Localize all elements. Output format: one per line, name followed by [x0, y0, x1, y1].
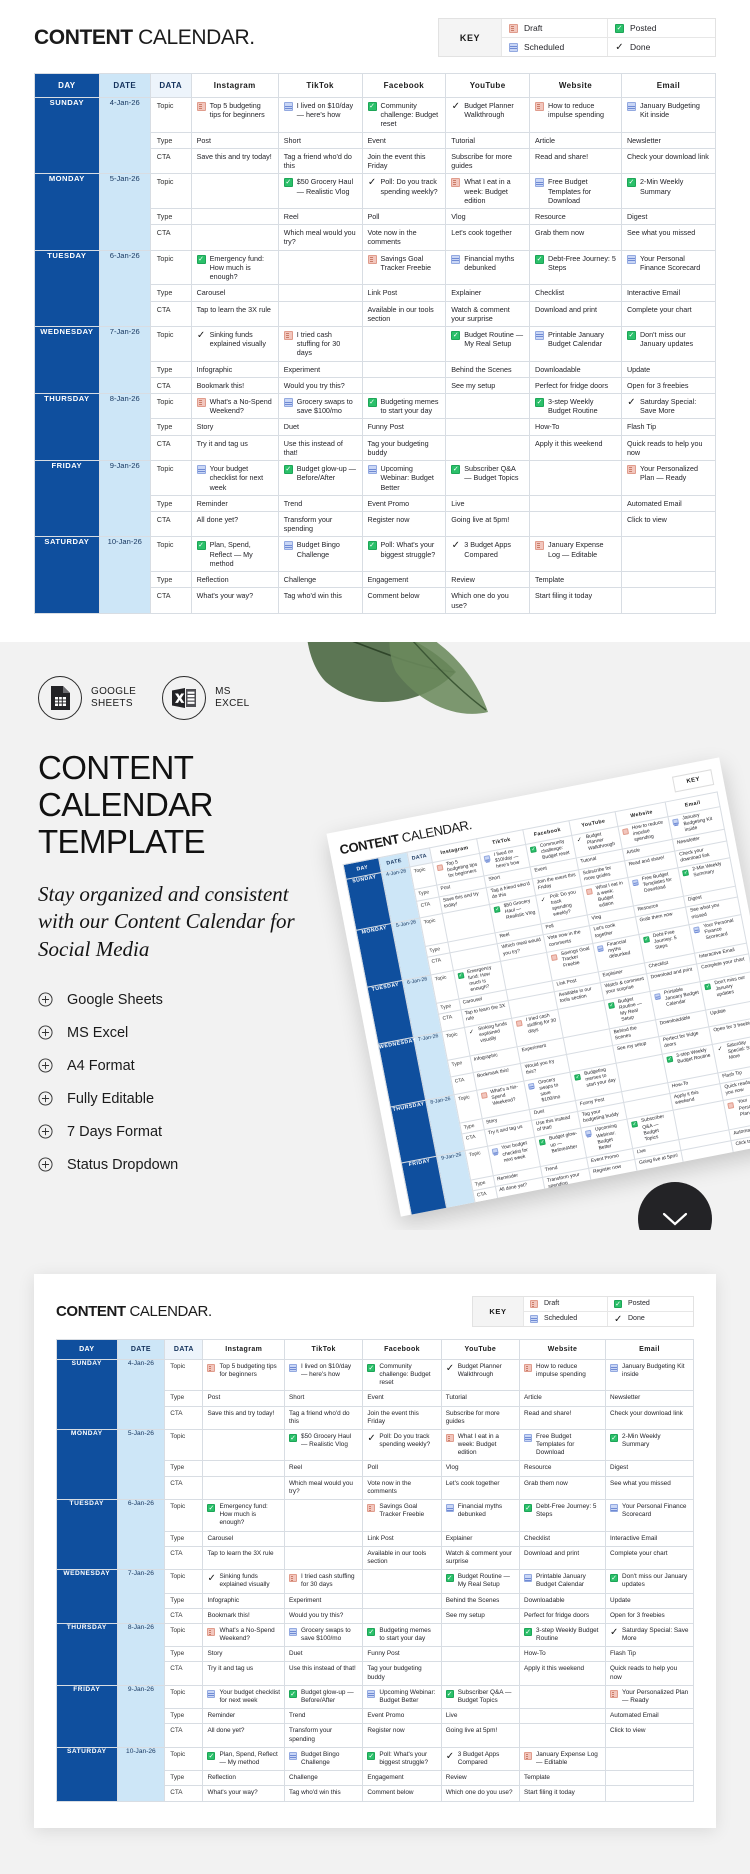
done-icon[interactable]	[468, 1028, 475, 1035]
content-cell[interactable]: Tag your budgeting buddy	[362, 435, 446, 460]
content-cell[interactable]	[606, 1786, 694, 1801]
scheduled-icon[interactable]	[289, 1752, 297, 1760]
content-cell[interactable]: January Expense Log — Editable	[520, 1747, 606, 1770]
content-cell[interactable]	[362, 326, 446, 361]
content-cell[interactable]: Live	[441, 1709, 519, 1724]
scheduled-icon[interactable]	[672, 818, 679, 825]
content-cell[interactable]	[362, 361, 446, 377]
done-icon[interactable]	[207, 1574, 215, 1582]
posted-icon[interactable]	[494, 906, 501, 913]
content-cell[interactable]: Tag who'd win this	[285, 1786, 363, 1801]
content-cell[interactable]: Vote now in the comments	[363, 1476, 441, 1499]
content-cell[interactable]: Bookmark this!	[191, 377, 278, 393]
posted-icon[interactable]	[627, 178, 636, 187]
content-cell[interactable]	[441, 1662, 519, 1685]
content-cell[interactable]: Article	[530, 132, 622, 148]
content-cell[interactable]: Budget Bingo Challenge	[285, 1747, 363, 1770]
content-cell[interactable]: Reel	[285, 1461, 363, 1476]
content-cell[interactable]: Downloadable	[530, 361, 622, 377]
content-cell[interactable]: What's your way?	[203, 1786, 285, 1801]
draft-icon[interactable]	[524, 1364, 532, 1372]
content-cell[interactable]	[278, 285, 362, 301]
content-cell[interactable]: Poll: Do you track spending weekly?	[362, 174, 446, 209]
content-cell[interactable]: Community challenge: Budget reset	[363, 1359, 441, 1391]
content-cell[interactable]: Review	[446, 572, 530, 588]
done-icon[interactable]	[717, 1045, 724, 1052]
content-cell[interactable]	[520, 1685, 606, 1708]
draft-icon[interactable]	[535, 102, 544, 111]
content-cell[interactable]: Financial myths debunked	[446, 250, 530, 285]
content-cell[interactable]: Explainer	[446, 285, 530, 301]
draft-icon[interactable]	[535, 541, 544, 550]
content-cell[interactable]: Automated Email	[621, 495, 715, 511]
content-cell[interactable]: Post	[203, 1391, 285, 1406]
content-cell[interactable]: Savings Goal Tracker Freebie	[362, 250, 446, 285]
content-cell[interactable]: Perfect for fridge doors	[530, 377, 622, 393]
scheduled-icon[interactable]	[289, 1364, 297, 1372]
draft-icon[interactable]	[367, 1504, 375, 1512]
done-icon[interactable]	[576, 837, 583, 844]
content-cell[interactable]: Story	[191, 419, 278, 435]
content-cell[interactable]: Don't miss our January updates	[606, 1570, 694, 1593]
scheduled-icon[interactable]	[654, 992, 661, 999]
posted-icon[interactable]	[368, 541, 377, 550]
content-cell[interactable]: Available in our tools section	[363, 1546, 441, 1569]
content-cell[interactable]: Apply it this weekend	[520, 1662, 606, 1685]
content-cell[interactable]: Budget glow-up — Before/After	[285, 1685, 363, 1708]
content-cell[interactable]: Grab them now	[520, 1476, 606, 1499]
scheduled-icon[interactable]	[597, 944, 604, 951]
content-cell[interactable]	[739, 1170, 750, 1191]
content-cell[interactable]: Plan, Spend, Reflect — My method	[203, 1747, 285, 1770]
content-cell[interactable]: Behind the Scenes	[446, 361, 530, 377]
scheduled-icon[interactable]	[368, 465, 377, 474]
content-cell[interactable]: Financial myths debunked	[441, 1500, 519, 1532]
content-cell[interactable]: $50 Grocery Haul — Realistic Vlog	[278, 174, 362, 209]
done-icon[interactable]	[642, 1178, 649, 1185]
content-cell[interactable]: Join the event this Friday	[363, 1406, 441, 1429]
content-cell[interactable]: I tried cash stuffing for 30 days	[278, 326, 362, 361]
posted-icon[interactable]	[284, 178, 293, 187]
content-cell[interactable]: Upcoming Webinar: Budget Better	[363, 1685, 441, 1708]
content-cell[interactable]: Sinking funds explained visually	[203, 1570, 285, 1593]
content-cell[interactable]	[606, 1771, 694, 1786]
content-cell[interactable]: Comment below	[362, 588, 446, 613]
content-cell[interactable]: Save this and try today!	[191, 148, 278, 173]
content-cell[interactable]: Let's cook together	[441, 1476, 519, 1499]
content-cell[interactable]: Tag a friend who'd do this	[285, 1406, 363, 1429]
done-icon[interactable]	[368, 178, 377, 187]
content-cell[interactable]: Vlog	[446, 208, 530, 224]
draft-icon[interactable]	[368, 255, 377, 264]
content-cell[interactable]	[621, 588, 715, 613]
content-cell[interactable]: Top 5 budgeting tips for beginners	[191, 98, 278, 133]
scheduled-icon[interactable]	[610, 1504, 618, 1512]
table-row[interactable]: FRIDAY9-Jan-26TopicYour budget checklist…	[35, 461, 716, 496]
posted-icon[interactable]	[610, 1574, 618, 1582]
content-cell[interactable]	[191, 208, 278, 224]
table-row[interactable]: TUESDAY6-Jan-26TopicEmergency fund: How …	[35, 250, 716, 285]
content-cell[interactable]: Checklist	[520, 1531, 606, 1546]
content-cell[interactable]: What's your way?	[191, 588, 278, 613]
scheduled-icon[interactable]	[484, 855, 491, 862]
content-cell[interactable]	[363, 1570, 441, 1593]
table-row[interactable]: SATURDAY10-Jan-26TopicPlan, Spend, Refle…	[57, 1747, 694, 1770]
posted-icon[interactable]	[197, 541, 206, 550]
done-icon[interactable]	[367, 1434, 375, 1442]
content-cell[interactable]	[446, 394, 530, 419]
content-cell[interactable]: Tag your budgeting buddy	[363, 1662, 441, 1685]
draft-icon[interactable]	[610, 1690, 618, 1698]
content-cell[interactable]: 3-step Weekly Budget Routine	[520, 1623, 606, 1646]
content-cell[interactable]: Subscriber Q&A — Budget Topics	[441, 1685, 519, 1708]
posted-icon[interactable]	[368, 398, 377, 407]
scheduled-icon[interactable]	[284, 541, 293, 550]
content-cell[interactable]	[621, 537, 715, 572]
draft-icon[interactable]	[480, 1091, 487, 1098]
draft-icon[interactable]	[516, 1019, 523, 1026]
content-cell[interactable]: Check your download link	[606, 1406, 694, 1429]
posted-icon[interactable]	[284, 465, 293, 474]
content-cell[interactable]: Experiment	[285, 1593, 363, 1608]
content-cell[interactable]: Your budget checklist for next week	[203, 1685, 285, 1708]
table-row[interactable]: MONDAY5-Jan-26Topic$50 Grocery Haul — Re…	[35, 174, 716, 209]
content-cell[interactable]: Try it and tag us	[203, 1662, 285, 1685]
content-cell[interactable]	[530, 495, 622, 511]
content-cell[interactable]	[530, 461, 622, 496]
scheduled-icon[interactable]	[610, 1364, 618, 1372]
content-cell[interactable]: 3 Budget Apps Compared	[446, 537, 530, 572]
posted-icon[interactable]	[207, 1504, 215, 1512]
draft-icon[interactable]	[551, 953, 558, 960]
content-cell[interactable]: Quick reads to help you now	[606, 1662, 694, 1685]
posted-icon[interactable]	[367, 1752, 375, 1760]
content-cell[interactable]: Budgeting memes to start your day	[362, 394, 446, 419]
content-cell[interactable]: Open for 3 freebies	[621, 377, 715, 393]
draft-icon[interactable]	[622, 828, 629, 835]
posted-icon[interactable]	[666, 1055, 673, 1062]
posted-icon[interactable]	[457, 972, 464, 979]
scheduled-icon[interactable]	[491, 1148, 498, 1155]
content-cell[interactable]: Vlog	[441, 1461, 519, 1476]
scheduled-icon[interactable]	[627, 102, 636, 111]
content-cell[interactable]: Transform your spending	[285, 1724, 363, 1747]
table-row[interactable]: SUNDAY4-Jan-26TopicTop 5 budgeting tips …	[57, 1359, 694, 1391]
content-cell[interactable]: Available in our tools section	[362, 301, 446, 326]
content-cell[interactable]	[285, 1500, 363, 1532]
content-cell[interactable]: Engagement	[362, 572, 446, 588]
content-cell[interactable]: Free Budget Templates for Download	[530, 174, 622, 209]
content-cell[interactable]	[285, 1546, 363, 1569]
content-cell[interactable]: Infographic	[191, 361, 278, 377]
content-cell[interactable]: Which meal would you try?	[285, 1476, 363, 1499]
content-cell[interactable]	[621, 572, 715, 588]
content-cell[interactable]: January Expense Log — Editable	[684, 1157, 739, 1190]
scheduled-icon[interactable]	[632, 879, 639, 886]
content-cell[interactable]: Review	[441, 1771, 519, 1786]
content-cell[interactable]: Infographic	[203, 1593, 285, 1608]
posted-icon[interactable]	[530, 846, 537, 853]
content-cell[interactable]: Join the event this Friday	[362, 148, 446, 173]
scheduled-icon[interactable]	[524, 1574, 532, 1582]
content-cell[interactable]: Would you try this?	[278, 377, 362, 393]
content-cell[interactable]: Explainer	[441, 1531, 519, 1546]
posted-icon[interactable]	[446, 1574, 454, 1582]
content-cell[interactable]	[191, 225, 278, 250]
content-cell[interactable]	[530, 512, 622, 537]
content-cell[interactable]: Going live at 5pm!	[446, 512, 530, 537]
content-cell[interactable]: Template	[530, 572, 622, 588]
content-cell[interactable]: Top 5 budgeting tips for beginners	[203, 1359, 285, 1391]
content-cell[interactable]: Budget Planner Walkthrough	[441, 1359, 519, 1391]
scheduled-icon[interactable]	[627, 255, 636, 264]
content-cell[interactable]: Interactive Email	[621, 285, 715, 301]
draft-icon[interactable]	[627, 465, 636, 474]
content-cell[interactable]	[446, 419, 530, 435]
content-cell[interactable]: 3-step Weekly Budget Routine	[530, 394, 622, 419]
content-cell[interactable]: Budget Bingo Challenge	[278, 537, 362, 572]
content-cell[interactable]: Watch & comment your surprise	[441, 1546, 519, 1569]
content-cell[interactable]: Your Personal Finance Scorecard	[606, 1500, 694, 1532]
content-cell[interactable]: Flash Tip	[621, 419, 715, 435]
content-cell[interactable]	[741, 1181, 750, 1208]
content-cell[interactable]: Checklist	[530, 285, 622, 301]
content-cell[interactable]: Budgeting memes to start your day	[363, 1623, 441, 1646]
content-cell[interactable]: Reminder	[191, 495, 278, 511]
content-cell[interactable]: See what you missed	[621, 225, 715, 250]
scheduled-icon[interactable]	[535, 178, 544, 187]
scheduled-icon[interactable]	[550, 1196, 557, 1203]
content-cell[interactable]	[446, 435, 530, 460]
content-cell[interactable]: Which one do you use?	[446, 588, 530, 613]
content-cell[interactable]: 2-Min Weekly Summary	[606, 1429, 694, 1461]
scheduled-icon[interactable]	[284, 398, 293, 407]
draft-icon[interactable]	[284, 331, 293, 340]
scheduled-icon[interactable]	[693, 926, 700, 933]
scheduled-icon[interactable]	[451, 255, 460, 264]
content-cell[interactable]: How-To	[520, 1647, 606, 1662]
content-cell[interactable]	[203, 1429, 285, 1461]
content-cell[interactable]: All done yet?	[191, 512, 278, 537]
content-cell[interactable]: Register now	[362, 512, 446, 537]
content-cell[interactable]: Template	[520, 1771, 606, 1786]
content-cell[interactable]: Tag who'd win this	[278, 588, 362, 613]
content-cell[interactable]	[441, 1647, 519, 1662]
draft-icon[interactable]	[207, 1364, 215, 1372]
content-cell[interactable]: Duet	[285, 1647, 363, 1662]
draft-icon[interactable]	[197, 398, 206, 407]
content-cell[interactable]: Reel	[278, 208, 362, 224]
content-cell[interactable]: Event Promo	[362, 495, 446, 511]
content-cell[interactable]: Event Promo	[363, 1709, 441, 1724]
posted-icon[interactable]	[704, 982, 711, 989]
content-cell[interactable]: What I eat in a week: Budget edition	[441, 1429, 519, 1461]
posted-icon[interactable]	[197, 255, 206, 264]
posted-icon[interactable]	[367, 1364, 375, 1372]
content-cell[interactable]: Poll: What's your biggest struggle?	[592, 1176, 642, 1208]
done-icon[interactable]	[446, 1364, 454, 1372]
content-cell[interactable]: Emergency fund: How much is enough?	[191, 250, 278, 285]
content-cell[interactable]: Try it and tag us	[191, 435, 278, 460]
content-cell[interactable]: Digest	[606, 1461, 694, 1476]
content-cell[interactable]: Budget glow-up — Before/After	[278, 461, 362, 496]
posted-icon[interactable]	[207, 1752, 215, 1760]
posted-icon[interactable]	[608, 1001, 615, 1008]
content-cell[interactable]	[203, 1461, 285, 1476]
content-cell[interactable]: 2-Min Weekly Summary	[621, 174, 715, 209]
content-cell[interactable]: Automated Email	[606, 1709, 694, 1724]
content-cell[interactable]: Resource	[520, 1461, 606, 1476]
content-cell[interactable]: Post	[191, 132, 278, 148]
content-cell[interactable]: Would you try this?	[285, 1608, 363, 1623]
content-cell[interactable]: Challenge	[278, 572, 362, 588]
content-cell[interactable]: Start filing it today	[520, 1786, 606, 1801]
content-cell[interactable]: Budget Planner Walkthrough	[446, 98, 530, 133]
content-cell[interactable]: Open for 3 freebies	[606, 1608, 694, 1623]
content-cell[interactable]: Printable January Budget Calendar	[520, 1570, 606, 1593]
content-cell[interactable]: Click to view	[606, 1724, 694, 1747]
content-cell[interactable]: Watch & comment your surprise	[446, 301, 530, 326]
scheduled-icon[interactable]	[528, 1082, 535, 1089]
content-cell[interactable]	[203, 1476, 285, 1499]
content-cell[interactable]: Community challenge: Budget reset	[362, 98, 446, 133]
content-cell[interactable]: See what you missed	[606, 1476, 694, 1499]
table-row[interactable]: THURSDAY8-Jan-26TopicWhat's a No-Spend W…	[35, 394, 716, 419]
content-cell[interactable]: Going live at 5pm!	[441, 1724, 519, 1747]
content-cell[interactable]: Plan, Spend, Reflect — My method	[498, 1194, 550, 1216]
posted-icon[interactable]	[451, 465, 460, 474]
content-cell[interactable]: Budget Bingo Challenge	[546, 1185, 596, 1216]
content-cell[interactable]: Read and share!	[530, 148, 622, 173]
content-cell[interactable]: What's a No-Spend Weekend?	[203, 1623, 285, 1646]
content-cell[interactable]: Saturday Special: Save More	[606, 1623, 694, 1646]
content-cell[interactable]: Carousel	[203, 1531, 285, 1546]
content-cell[interactable]: Challenge	[551, 1208, 599, 1216]
posted-icon[interactable]	[289, 1690, 297, 1698]
content-cell[interactable]: What I eat in a week: Budget edition	[446, 174, 530, 209]
posted-icon[interactable]	[596, 1187, 603, 1194]
table-row[interactable]: TUESDAY6-Jan-26TopicEmergency fund: How …	[57, 1500, 694, 1532]
content-cell[interactable]	[735, 1147, 750, 1180]
posted-icon[interactable]	[574, 1073, 581, 1080]
content-cell[interactable]: Your Personalized Plan — Ready	[606, 1685, 694, 1708]
content-cell[interactable]: Event	[363, 1391, 441, 1406]
content-cell[interactable]: Check your download link	[621, 148, 715, 173]
content-cell[interactable]: Budget Routine — My Real Setup	[446, 326, 530, 361]
content-cell[interactable]: Quick reads to help you now	[621, 435, 715, 460]
content-cell[interactable]: Update	[606, 1593, 694, 1608]
content-cell[interactable]: $50 Grocery Haul — Realistic Vlog	[285, 1429, 363, 1461]
posted-icon[interactable]	[524, 1628, 532, 1636]
posted-icon[interactable]	[631, 1121, 638, 1128]
content-cell[interactable]: Update	[621, 361, 715, 377]
content-cell[interactable]: Emergency fund: How much is enough?	[203, 1500, 285, 1532]
posted-icon[interactable]	[451, 331, 460, 340]
scheduled-icon[interactable]	[585, 1130, 592, 1137]
content-cell[interactable]: Grab them now	[530, 225, 622, 250]
draft-icon[interactable]	[586, 888, 593, 895]
content-cell[interactable]: Register now	[363, 1724, 441, 1747]
done-icon[interactable]	[451, 541, 460, 550]
content-cell[interactable]: Grocery swaps to save $100/mo	[285, 1623, 363, 1646]
content-cell[interactable]: Complete your chart	[606, 1546, 694, 1569]
content-cell[interactable]	[278, 301, 362, 326]
content-cell[interactable]: Duet	[278, 419, 362, 435]
posted-icon[interactable]	[446, 1690, 454, 1698]
posted-icon[interactable]	[524, 1504, 532, 1512]
posted-icon[interactable]	[610, 1434, 618, 1442]
content-cell[interactable]: Behind the Scenes	[441, 1593, 519, 1608]
content-cell[interactable]: How to reduce impulse spending	[530, 98, 622, 133]
content-cell[interactable]: Poll	[363, 1461, 441, 1476]
done-icon[interactable]	[610, 1628, 618, 1636]
table-row[interactable]: SATURDAY10-Jan-26TopicPlan, Spend, Refle…	[35, 537, 716, 572]
content-cell[interactable]: Perfect for fridge doors	[520, 1608, 606, 1623]
content-cell[interactable]: Short	[285, 1391, 363, 1406]
content-cell[interactable]: Free Budget Templates for Download	[520, 1429, 606, 1461]
content-cell[interactable]: Read and share!	[520, 1406, 606, 1429]
content-cell[interactable]: Experiment	[278, 361, 362, 377]
content-cell[interactable]	[441, 1623, 519, 1646]
content-cell[interactable]: Downloadable	[520, 1593, 606, 1608]
content-cell[interactable]: Tutorial	[446, 132, 530, 148]
done-icon[interactable]	[197, 331, 206, 340]
content-cell[interactable]: Subscribe for more guides	[441, 1406, 519, 1429]
posted-icon[interactable]	[502, 1205, 509, 1212]
content-cell[interactable]: Complete your chart	[621, 301, 715, 326]
content-cell[interactable]: Digest	[621, 208, 715, 224]
scheduled-icon[interactable]	[367, 1690, 375, 1698]
content-cell[interactable]: Article	[520, 1391, 606, 1406]
draft-icon[interactable]	[197, 102, 206, 111]
posted-icon[interactable]	[535, 255, 544, 264]
content-cell[interactable]: Poll: What's your biggest struggle?	[362, 537, 446, 572]
content-cell[interactable]: January Expense Log — Editable	[530, 537, 622, 572]
content-cell[interactable]: Tag a friend who'd do this	[278, 148, 362, 173]
content-cell[interactable]: Let's cook together	[446, 225, 530, 250]
content-cell[interactable]: Event	[362, 132, 446, 148]
content-cell[interactable]: Comment below	[363, 1786, 441, 1801]
draft-icon[interactable]	[524, 1752, 532, 1760]
content-cell[interactable]: I lived on $10/day — here's how	[285, 1359, 363, 1391]
content-cell[interactable]: Your Personalized Plan — Ready	[621, 461, 715, 496]
content-cell[interactable]: Download and print	[530, 301, 622, 326]
content-cell[interactable]: Don't miss our January updates	[621, 326, 715, 361]
content-cell[interactable]: How-To	[530, 419, 622, 435]
scheduled-icon[interactable]	[289, 1628, 297, 1636]
content-cell[interactable]: Use this instead of that!	[278, 435, 362, 460]
scheduled-icon[interactable]	[207, 1690, 215, 1698]
posted-icon[interactable]	[368, 102, 377, 111]
content-cell[interactable]: Use this instead of that!	[285, 1662, 363, 1685]
content-cell[interactable]: What's a No-Spend Weekend?	[191, 394, 278, 419]
content-cell[interactable]: Sinking funds explained visually	[191, 326, 278, 361]
content-cell[interactable]: Save this and try today!	[203, 1406, 285, 1429]
draft-icon[interactable]	[207, 1628, 215, 1636]
content-cell[interactable]	[363, 1593, 441, 1608]
content-cell[interactable]: Transform your spending	[278, 512, 362, 537]
content-cell[interactable]: Click to view	[621, 512, 715, 537]
content-cell[interactable]: Bookmark this!	[203, 1608, 285, 1623]
content-cell[interactable]: Upcoming Webinar: Budget Better	[362, 461, 446, 496]
content-cell[interactable]: Story	[203, 1647, 285, 1662]
done-icon[interactable]	[446, 1752, 454, 1760]
content-cell[interactable]: Apply it this weekend	[530, 435, 622, 460]
draft-icon[interactable]	[446, 1434, 454, 1442]
scheduled-icon[interactable]	[446, 1504, 454, 1512]
content-cell[interactable]: January Budgeting Kit inside	[606, 1359, 694, 1391]
content-cell[interactable]: Subscribe for more guides	[446, 148, 530, 173]
